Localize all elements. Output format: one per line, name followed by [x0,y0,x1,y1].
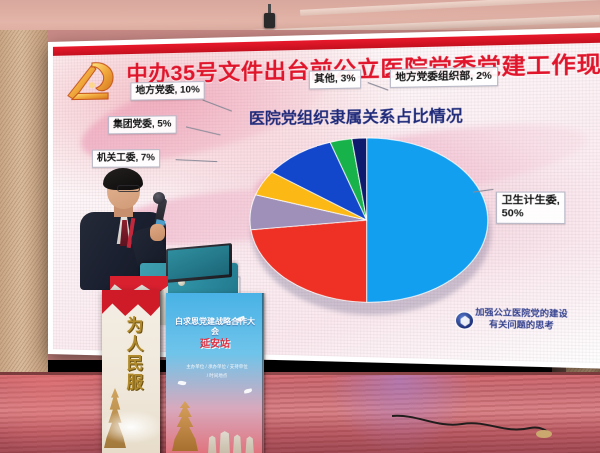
laptop-screen [168,245,229,279]
pie-slice [251,220,367,303]
pie-label-weishengjishengwei: 卫生计生委,50% [496,191,566,223]
left-wall-panel [0,30,48,430]
power-cable [392,412,552,440]
blue-banner-subtitle: 延安站 [178,335,252,350]
banner-edge-shadow [262,293,266,453]
pie-label-jituan-dangwei: 集团党委, 5% [108,115,177,134]
pagoda-icon [172,401,198,451]
slide-footer-line2: 有关问题的思考 [489,319,554,330]
projector-icon [264,13,275,28]
blue-rollup-banner: 白求恩党建战略合作大会 延安站 主办单位 / 承办单位 / 支持单位 / 时间地… [166,293,264,453]
banner-light-reflection [102,410,160,444]
speaker-hand [150,224,165,241]
eyeglasses-icon [117,185,140,192]
pie-label-difang-dangwei: 地方党委, 10% [130,81,205,101]
pie-slice [367,137,488,305]
pie-chart [249,136,494,321]
pie-chart-svg [249,136,489,306]
gold-rollup-banner: 为人民服 [102,290,160,453]
dove-icon [244,388,253,393]
banner-red-top [102,290,160,316]
banner-edge-shadow [160,290,164,453]
gold-banner-text: 为人民服 [120,316,150,392]
stage-edge [0,372,600,375]
pie-label-difang-dangwei-zuzhibu: 地方党委组织部, 2% [390,67,498,88]
party-emblem-icon [62,54,120,112]
slide-subtitle: 医院党组织隶属关系占比情况 [249,104,463,129]
banner-figures-artwork [206,425,258,453]
microphone-head-icon [153,192,165,204]
conference-stage-photo: 中办35号文件出台前公立医院党委党建工作现状 医院党组织隶属关系占比情况 地方党… [0,0,600,453]
pie-label-jiguan-gongwei: 机关工委, 7% [92,149,160,168]
dove-icon [178,380,187,386]
pie-label-weishengjishengwei-text: 卫生计生委 [502,195,557,207]
pie-label-qita: 其他, 3% [309,70,361,90]
blue-banner-details: 主办单位 / 承办单位 / 支持单位 / 时间地点 [186,363,248,380]
